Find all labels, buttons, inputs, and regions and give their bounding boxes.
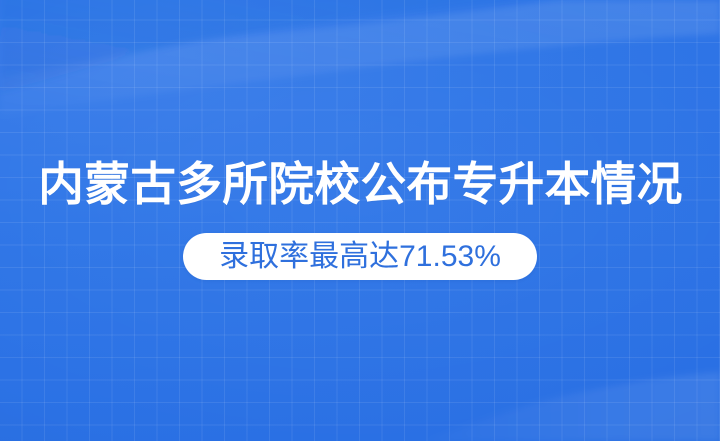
banner-content: 内蒙古多所院校公布专升本情况 录取率最高达71.53% (0, 0, 720, 441)
highlight-pill: 录取率最高达71.53% (183, 233, 537, 280)
highlight-pill-label: 录取率最高达71.53% (219, 242, 501, 272)
promo-banner: 内蒙古多所院校公布专升本情况 录取率最高达71.53% (0, 0, 720, 441)
banner-headline: 内蒙古多所院校公布专升本情况 (38, 161, 682, 207)
